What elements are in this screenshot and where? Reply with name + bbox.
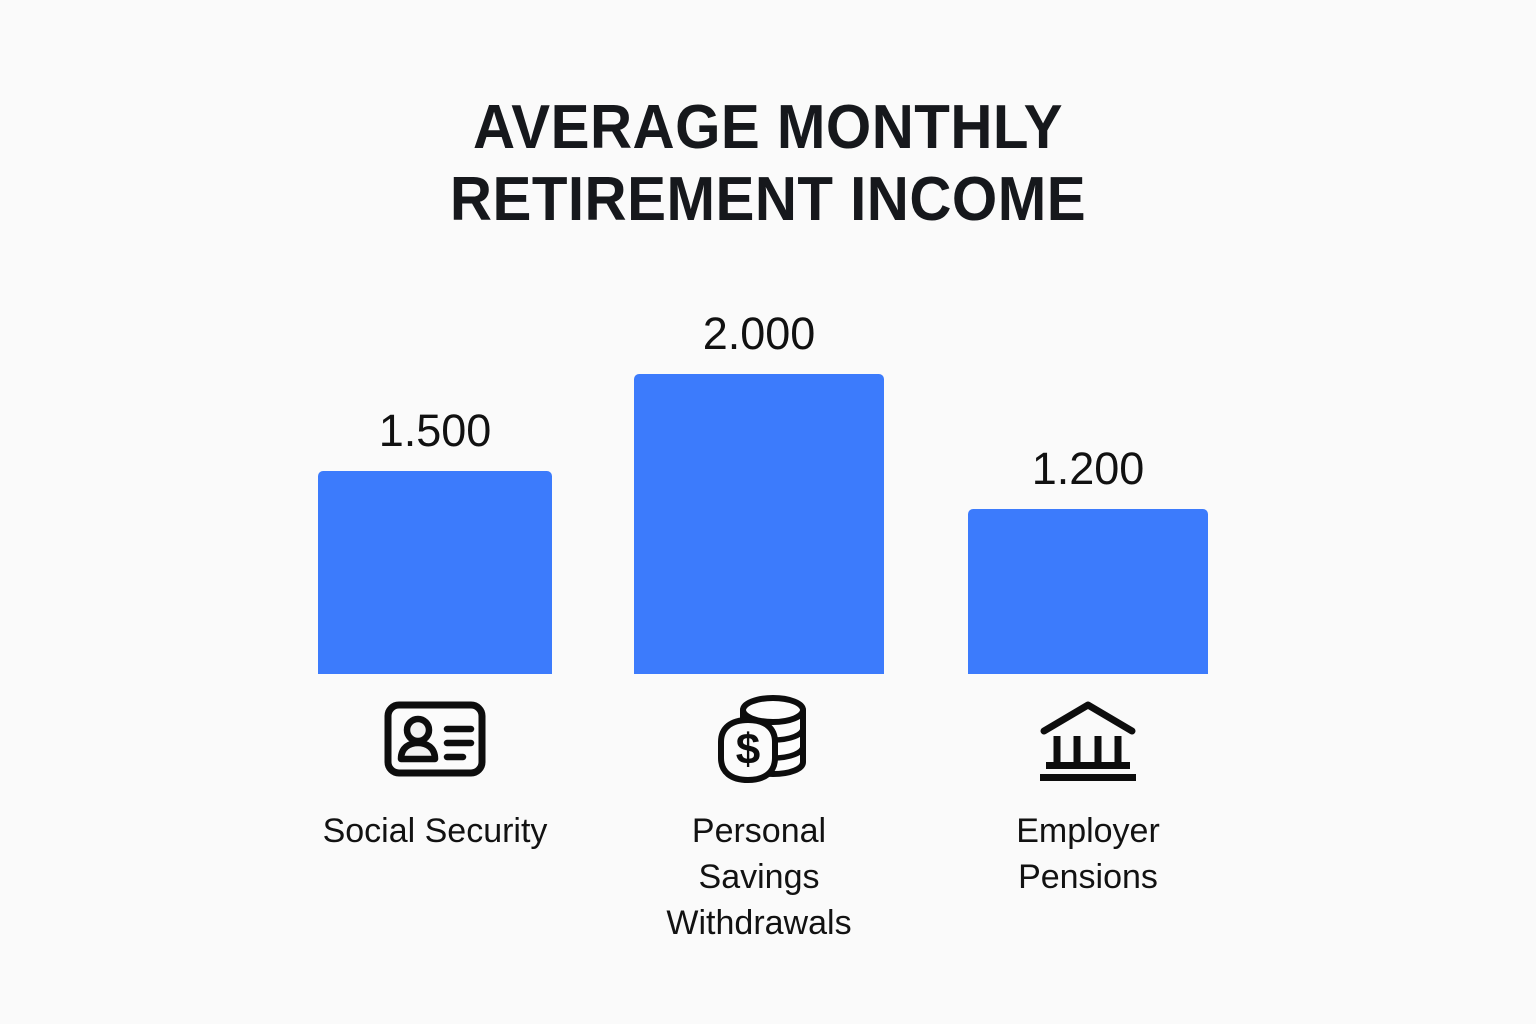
svg-text:$: $ bbox=[736, 725, 760, 774]
bar-value-label: 1.200 bbox=[968, 446, 1208, 491]
infographic-canvas: AVERAGE MONTHLY RETIREMENT INCOME 1.500 … bbox=[0, 0, 1536, 1024]
bar-group-social-security: 1.500 Social Security bbox=[318, 0, 552, 1024]
bar-category-label: Social Security bbox=[318, 808, 552, 854]
bar-chart-plot-area: 1.500 Social Security 2.000 bbox=[0, 0, 1536, 1024]
bar-personal-savings-withdrawals[interactable] bbox=[634, 374, 884, 674]
bar-group-personal-savings: 2.000 $ Personal Savings Withdrawals bbox=[634, 0, 884, 1024]
coin-stack-dollar-icon: $ bbox=[634, 692, 884, 786]
bar-value-label: 2.000 bbox=[634, 311, 884, 356]
bar-category-label: Employer Pensions bbox=[968, 808, 1208, 900]
bar-social-security[interactable] bbox=[318, 471, 552, 674]
bar-category-label: Personal Savings Withdrawals bbox=[634, 808, 884, 946]
bar-group-employer-pensions: 1.200 Employer Pensions bbox=[968, 0, 1208, 1024]
bank-building-icon bbox=[968, 700, 1208, 782]
id-card-icon bbox=[318, 700, 552, 778]
bar-employer-pensions[interactable] bbox=[968, 509, 1208, 674]
bar-value-label: 1.500 bbox=[318, 408, 552, 453]
